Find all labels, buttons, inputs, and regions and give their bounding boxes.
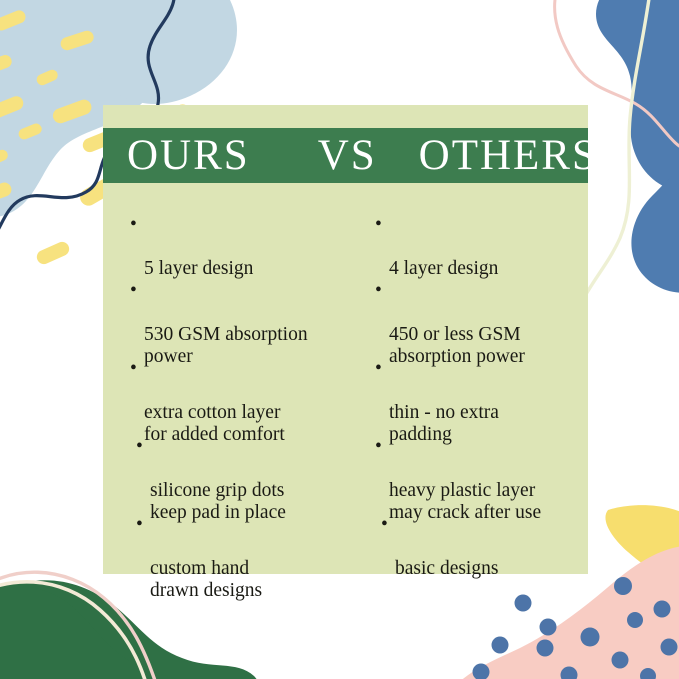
bullet-icon: • bbox=[130, 358, 137, 380]
card-columns: • 5 layer design • 530 GSM absorption po… bbox=[103, 183, 588, 574]
light-blue-blob-2 bbox=[89, 0, 237, 104]
header-label-others: OTHERS bbox=[419, 134, 598, 177]
list-item-label: custom hand drawn designs bbox=[150, 558, 366, 602]
bullet-icon: • bbox=[375, 214, 382, 236]
list-item-label: basic designs bbox=[395, 558, 586, 580]
column-others: • 4 layer design • 450 or less GSM absor… bbox=[368, 183, 588, 574]
bullet-icon: • bbox=[381, 514, 388, 536]
bullet-icon: • bbox=[130, 214, 137, 236]
header-label-vs: VS bbox=[318, 134, 377, 177]
column-ours: • 5 layer design • 530 GSM absorption po… bbox=[103, 183, 368, 574]
bullet-icon: • bbox=[375, 436, 382, 458]
bullet-icon: • bbox=[375, 358, 382, 380]
list-item-label: 5 layer design bbox=[144, 258, 365, 280]
blue-blob bbox=[596, 0, 679, 192]
bullet-icon: • bbox=[136, 436, 143, 458]
bullet-icon: • bbox=[130, 280, 137, 302]
header-label-ours: OURS bbox=[127, 134, 250, 177]
list-item: • custom hand drawn designs bbox=[136, 514, 366, 624]
list-item-label: 4 layer design bbox=[389, 258, 585, 280]
comparison-card: OURS VS OTHERS • 5 layer design • 530 GS… bbox=[103, 105, 588, 574]
list-item: • basic designs bbox=[381, 514, 586, 602]
card-header: OURS VS OTHERS bbox=[103, 128, 588, 183]
bullet-icon: • bbox=[375, 280, 382, 302]
bullet-icon: • bbox=[136, 514, 143, 536]
